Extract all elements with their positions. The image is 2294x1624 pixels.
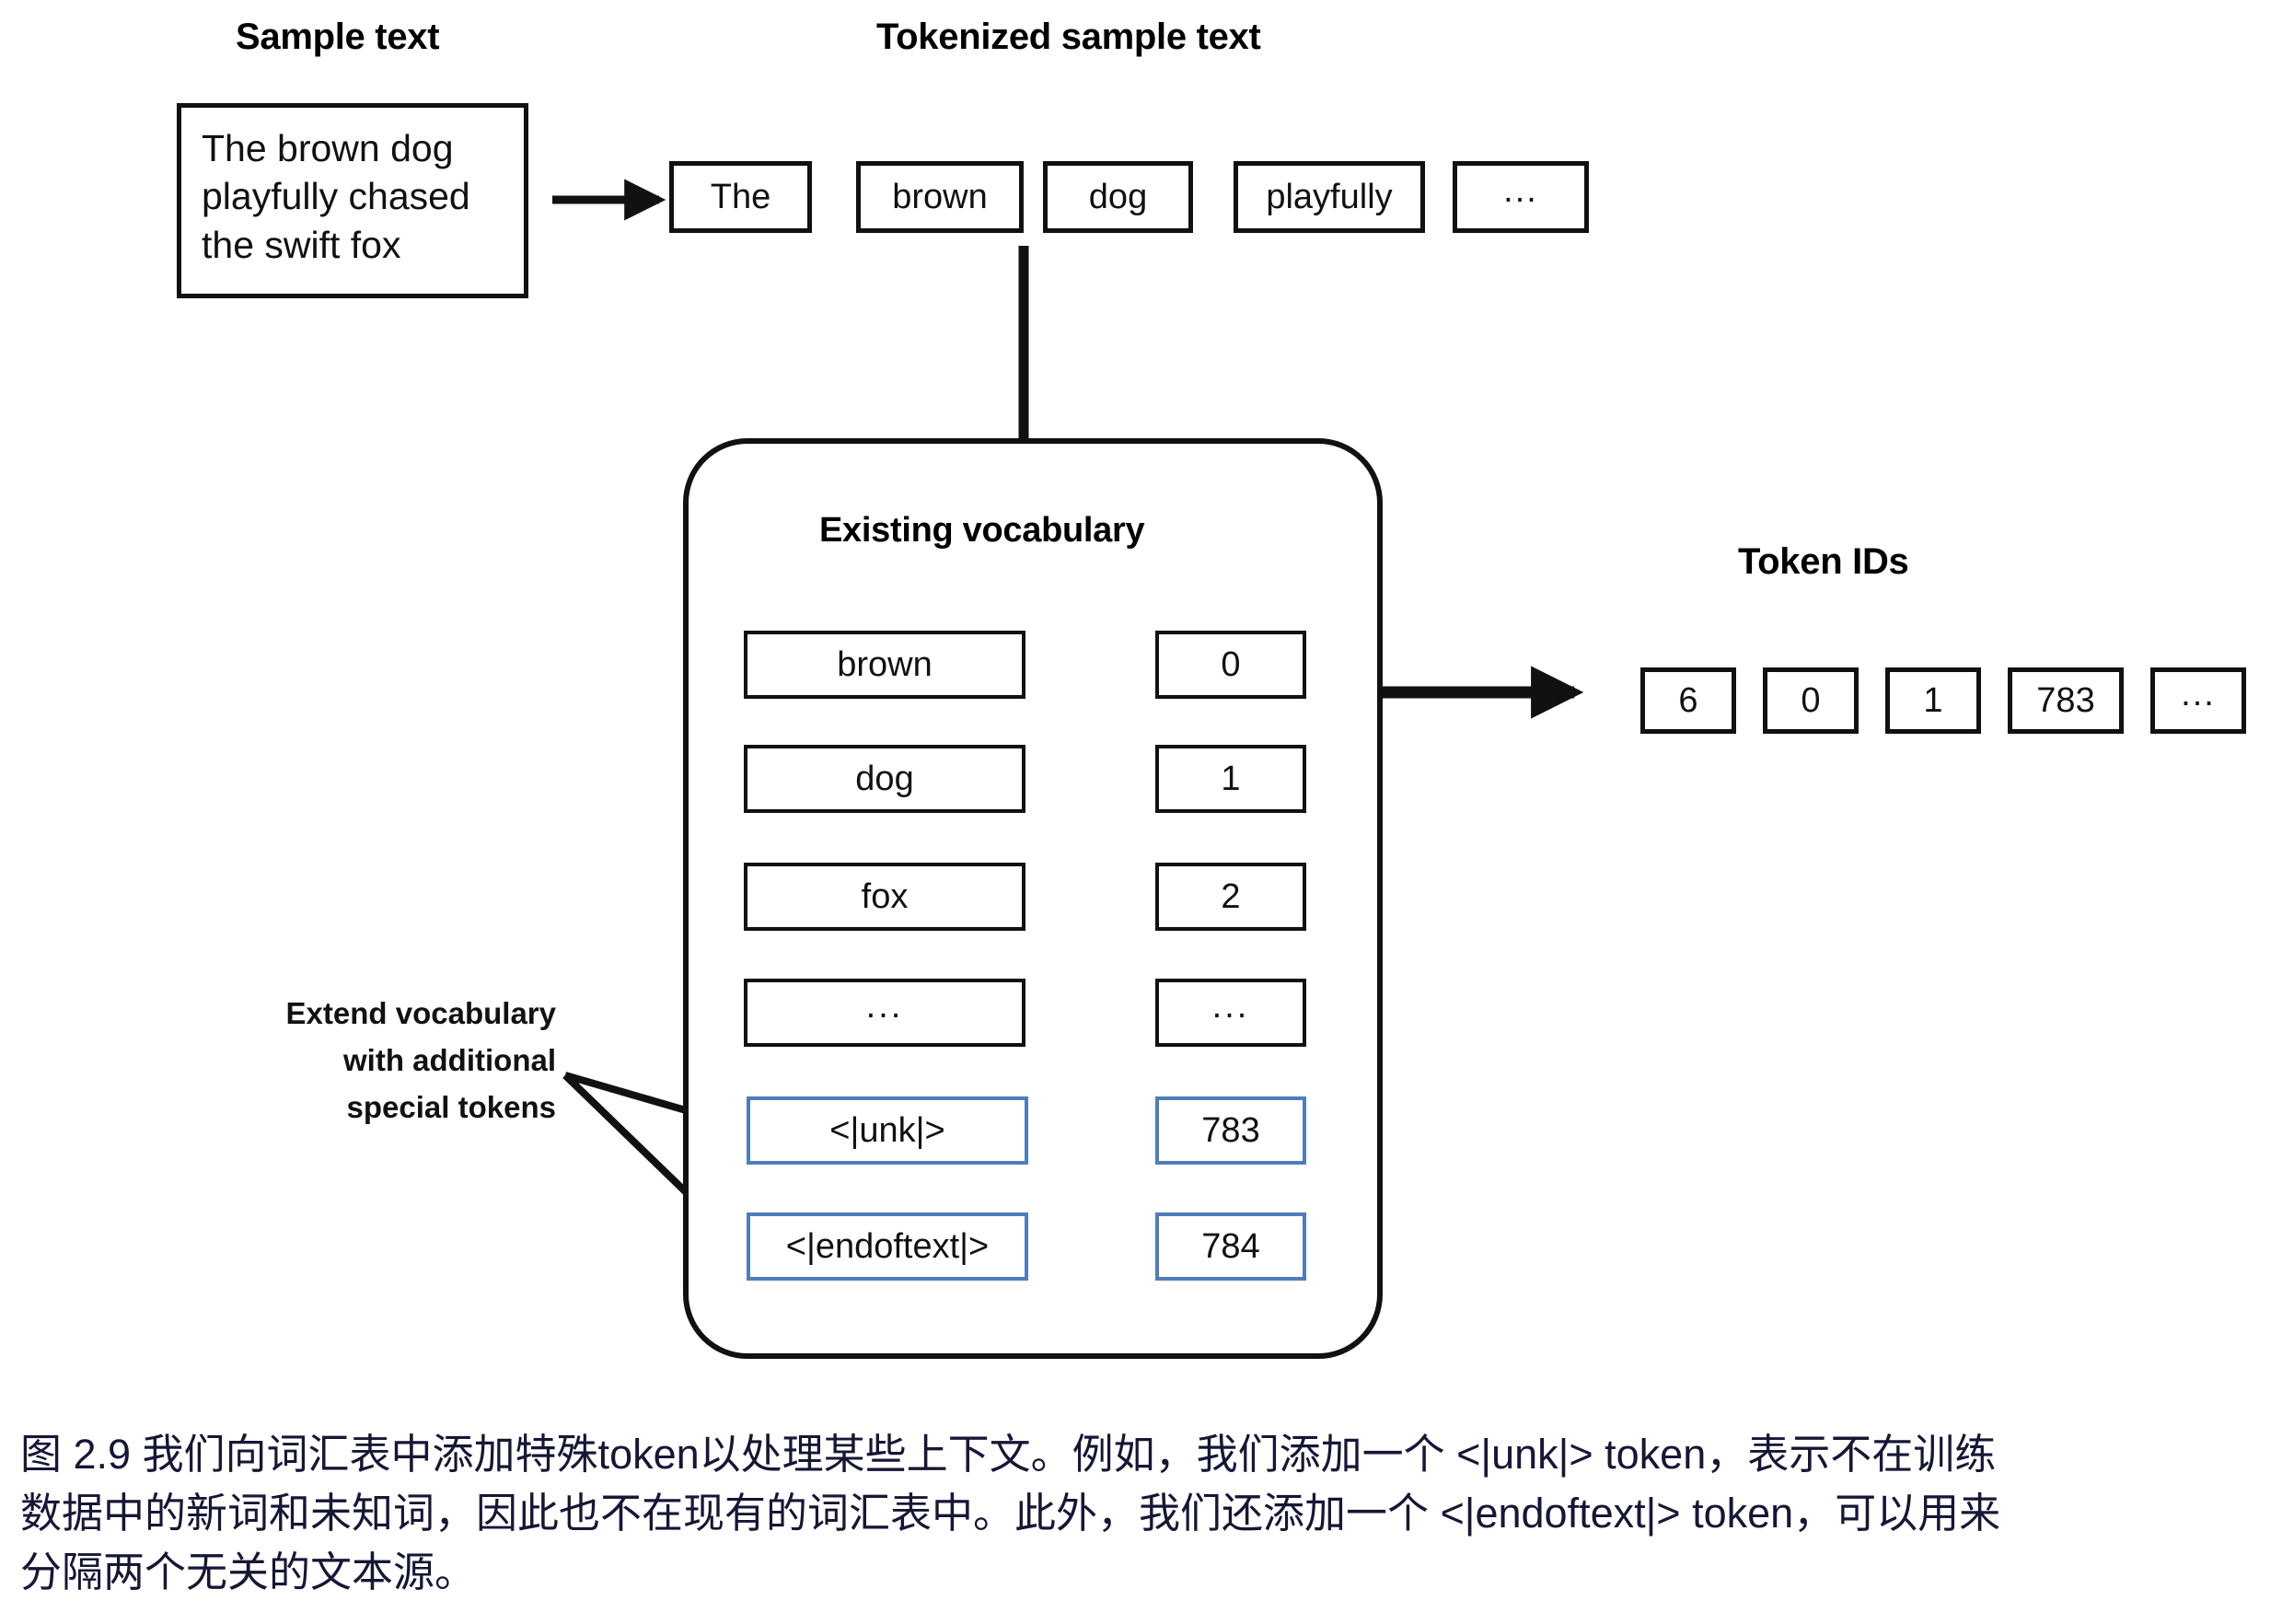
- vocab-id-cell: ...: [1155, 979, 1306, 1047]
- vocab-word-label: ...: [866, 987, 904, 1027]
- token-id-label: 0: [1801, 681, 1820, 721]
- vocab-id-label: ...: [1212, 987, 1250, 1027]
- vocab-id-label: 783: [1201, 1111, 1259, 1151]
- vocab-word-cell-special: <|endoftext|>: [747, 1212, 1028, 1281]
- token-label: dog: [1089, 178, 1147, 217]
- caption-line-3: 分隔两个无关的文本源。: [20, 1543, 2285, 1602]
- token-label: The: [711, 178, 770, 217]
- token-label: playfully: [1266, 178, 1392, 217]
- vocab-word-label: fox: [862, 877, 909, 917]
- vocab-id-cell: 1: [1155, 745, 1306, 813]
- token-box: dog: [1043, 161, 1193, 233]
- token-box: The: [669, 161, 812, 233]
- annotation-extend-vocabulary: Extend vocabulary with additional specia…: [197, 990, 556, 1131]
- token-box: ...: [1453, 161, 1589, 233]
- figure-caption: 图 2.9 我们向词汇表中添加特殊token以处理某些上下文。例如，我们添加一个…: [20, 1425, 2285, 1602]
- caption-line-2: 数据中的新词和未知词，因此也不在现有的词汇表中。此外，我们还添加一个 <|end…: [20, 1484, 2285, 1543]
- heading-sample-text: Sample text: [236, 17, 439, 58]
- token-id-box: 1: [1885, 667, 1981, 734]
- vocab-word-cell: ...: [744, 979, 1025, 1047]
- token-id-box: 6: [1640, 667, 1736, 734]
- sample-text-line-3: the swift fox: [202, 221, 504, 269]
- annotation-line-3: special tokens: [197, 1084, 556, 1131]
- vocab-word-label: brown: [837, 645, 933, 685]
- vocab-id-cell-special: 784: [1155, 1212, 1306, 1281]
- vocab-id-label: 2: [1221, 877, 1240, 917]
- token-id-label: 6: [1678, 681, 1697, 721]
- vocab-id-cell-special: 783: [1155, 1096, 1306, 1165]
- vocab-word-label: dog: [855, 760, 913, 799]
- annotation-line-2: with additional: [197, 1037, 556, 1084]
- vocab-id-label: 784: [1201, 1227, 1259, 1267]
- token-id-label: ...: [2181, 675, 2216, 714]
- sample-text-line-2: playfully chased: [202, 172, 504, 220]
- vocab-word-cell-special: <|unk|>: [747, 1096, 1028, 1165]
- vocab-id-label: 1: [1221, 760, 1240, 799]
- token-id-box: 783: [2008, 667, 2124, 734]
- token-id-label: 1: [1923, 681, 1942, 721]
- vocab-id-cell: 2: [1155, 863, 1306, 931]
- caption-line-1: 图 2.9 我们向词汇表中添加特殊token以处理某些上下文。例如，我们添加一个…: [20, 1425, 2285, 1484]
- vocab-word-label: <|unk|>: [829, 1111, 944, 1151]
- vocab-word-cell: brown: [744, 631, 1025, 699]
- token-id-box: 0: [1763, 667, 1859, 734]
- vocab-id-cell: 0: [1155, 631, 1306, 699]
- sample-text-line-1: The brown dog: [202, 124, 504, 172]
- heading-tokenized-sample-text: Tokenized sample text: [876, 17, 1261, 58]
- token-box: playfully: [1234, 161, 1425, 233]
- vocab-word-cell: fox: [744, 863, 1025, 931]
- token-id-box: ...: [2150, 667, 2246, 734]
- token-label: ...: [1503, 171, 1538, 211]
- vocab-word-label: <|endoftext|>: [786, 1227, 989, 1267]
- annotation-line-1: Extend vocabulary: [197, 990, 556, 1037]
- token-id-label: 783: [2036, 681, 2094, 721]
- token-box: brown: [856, 161, 1024, 233]
- vocab-id-label: 0: [1221, 645, 1240, 685]
- vocab-word-cell: dog: [744, 745, 1025, 813]
- sample-text-box: The brown dog playfully chased the swift…: [177, 103, 528, 298]
- token-label: brown: [892, 178, 988, 217]
- figure-canvas: Sample text Tokenized sample text Token …: [0, 0, 2294, 1624]
- heading-existing-vocabulary: Existing vocabulary: [819, 511, 1144, 551]
- heading-token-ids: Token IDs: [1738, 541, 1908, 583]
